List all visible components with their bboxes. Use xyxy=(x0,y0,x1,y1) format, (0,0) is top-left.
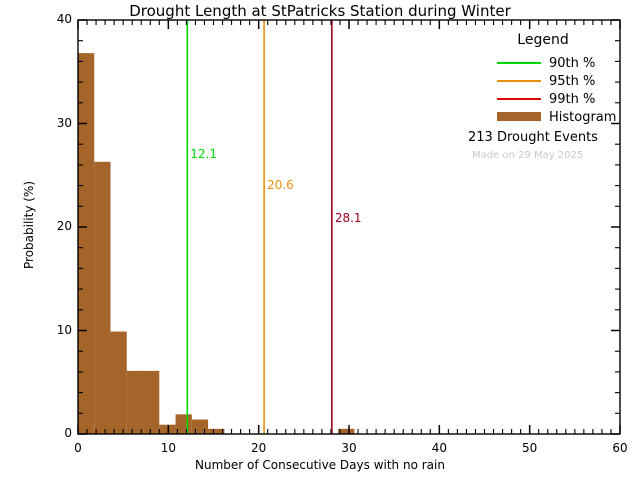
x-tick-label: 30 xyxy=(319,441,379,455)
histogram-bar xyxy=(127,371,143,434)
plot-canvas xyxy=(0,0,640,480)
percentile-value-label: 20.6 xyxy=(267,178,294,192)
chart-figure: Drought Length at StPatricks Station dur… xyxy=(0,0,640,480)
x-tick-label: 60 xyxy=(590,441,640,455)
y-tick-label: 0 xyxy=(26,426,72,440)
x-tick-label: 10 xyxy=(138,441,198,455)
legend-line xyxy=(497,98,541,100)
x-tick-label: 20 xyxy=(229,441,289,455)
legend-entry-label: 95th % xyxy=(549,74,595,89)
histogram-bar xyxy=(176,414,192,434)
legend-line xyxy=(497,80,541,82)
histogram-bar xyxy=(192,420,208,434)
histogram-bar xyxy=(111,332,127,434)
histogram-bar xyxy=(94,162,110,434)
histogram-bar xyxy=(159,425,175,434)
drought-events-count: 213 Drought Events xyxy=(468,130,598,145)
percentile-value-label: 12.1 xyxy=(190,147,217,161)
legend-entry-label: 90th % xyxy=(549,56,595,71)
legend-title: Legend xyxy=(448,32,638,48)
y-tick-label: 40 xyxy=(26,12,72,26)
histogram-bar xyxy=(338,429,354,434)
x-tick-label: 50 xyxy=(500,441,560,455)
legend-line xyxy=(497,62,541,64)
histogram-bar xyxy=(143,371,159,434)
legend-swatch xyxy=(497,112,541,121)
x-tick-label: 0 xyxy=(48,441,108,455)
y-tick-label: 30 xyxy=(26,116,72,130)
histogram-bar xyxy=(78,53,94,434)
histogram-bar xyxy=(208,429,224,434)
y-tick-label: 20 xyxy=(26,219,72,233)
percentile-value-label: 28.1 xyxy=(335,211,362,225)
legend-entry-label: Histogram xyxy=(549,110,616,125)
legend-entry-label: 99th % xyxy=(549,92,595,107)
axis-frame xyxy=(78,20,620,434)
y-tick-label: 10 xyxy=(26,323,72,337)
made-on-note: Made on 29 May 2025 xyxy=(472,150,583,161)
x-tick-label: 40 xyxy=(409,441,469,455)
